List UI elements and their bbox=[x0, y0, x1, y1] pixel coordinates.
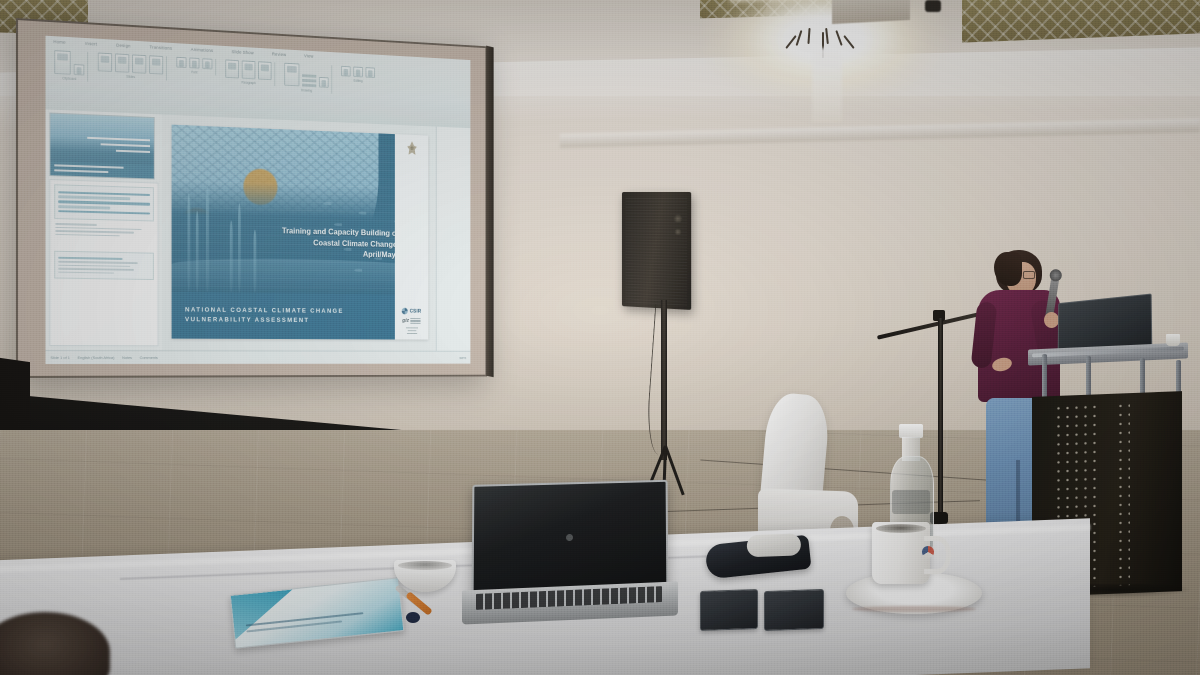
doc-section-2 bbox=[54, 251, 154, 280]
laptop-logo-icon bbox=[566, 534, 573, 541]
projected-image: Home Insert Design Transitions Animation… bbox=[45, 36, 470, 364]
partner-logo bbox=[406, 327, 418, 334]
giz-logo: giz bbox=[402, 318, 421, 324]
bottle-cap bbox=[899, 424, 923, 438]
slide-logo-column: CSIR giz bbox=[395, 134, 428, 339]
mic-stand-pole bbox=[938, 318, 943, 540]
slide-title-block: Training and Capacity Building on the Co… bbox=[246, 225, 414, 261]
paste-button[interactable] bbox=[54, 50, 71, 75]
speaker-tweeter-icon bbox=[674, 228, 681, 235]
tab-animations[interactable]: Animations bbox=[191, 47, 213, 53]
bold-button[interactable] bbox=[176, 57, 186, 68]
group-label-editing: Editing bbox=[354, 79, 363, 83]
csir-logo: CSIR bbox=[402, 308, 421, 315]
status-comments-button[interactable]: Comments bbox=[140, 355, 158, 360]
current-slide[interactable]: Training and Capacity Building on the Co… bbox=[172, 125, 429, 340]
section-button[interactable] bbox=[149, 55, 163, 74]
group-label-font: Font bbox=[191, 70, 197, 74]
coat-of-arms-icon bbox=[405, 140, 419, 157]
light-stem bbox=[812, 48, 842, 122]
lectern-post-1 bbox=[1042, 354, 1047, 402]
ppt-slide-stage[interactable]: Training and Capacity Building on the Co… bbox=[162, 114, 436, 350]
booklet-cover-wedge bbox=[231, 589, 297, 639]
ribbon-group-clipboard[interactable]: Clipboard bbox=[51, 50, 88, 82]
ribbon-group-paragraph[interactable]: Paragraph bbox=[223, 59, 276, 86]
lectern-mug bbox=[1166, 334, 1180, 346]
tab-view[interactable]: View bbox=[304, 53, 313, 58]
smartphone-2 bbox=[764, 589, 824, 631]
cut-button[interactable] bbox=[74, 64, 85, 75]
pen-cap-navy bbox=[406, 612, 420, 623]
document-preview-pane[interactable] bbox=[49, 179, 158, 346]
projection-screen: Home Insert Design Transitions Animation… bbox=[16, 18, 487, 378]
laptop-screen bbox=[472, 480, 669, 599]
ribbon-group-drawing[interactable]: Drawing bbox=[282, 63, 333, 94]
presentation-photo: Home Insert Design Transitions Animation… bbox=[0, 0, 1200, 675]
layout-button[interactable] bbox=[115, 53, 129, 72]
ppt-thumbnail-pane[interactable] bbox=[45, 109, 163, 350]
shape-fill-button[interactable] bbox=[319, 77, 329, 88]
presenter-hair-front bbox=[994, 252, 1022, 286]
slide-seabed-graphic bbox=[172, 257, 429, 294]
status-zoom-level[interactable]: 68% bbox=[459, 355, 466, 360]
ppt-ribbon-groups[interactable]: Clipboard Slides bbox=[51, 50, 467, 100]
tab-design[interactable]: Design bbox=[116, 43, 130, 49]
giz-logo-bars-icon bbox=[411, 318, 421, 323]
speaker-driver-icon bbox=[673, 214, 682, 223]
ribbon-group-editing[interactable]: Editing bbox=[338, 66, 377, 84]
select-icon[interactable] bbox=[365, 67, 375, 78]
status-language[interactable]: English (South Africa) bbox=[78, 355, 115, 360]
numbering-button[interactable] bbox=[242, 60, 256, 79]
ppt-status-bar[interactable]: Slide 1 of 1 English (South Africa) Note… bbox=[45, 350, 470, 364]
group-label-clipboard: Clipboard bbox=[62, 76, 76, 81]
tab-insert[interactable]: Insert bbox=[85, 41, 97, 47]
lectern-perforation-2 bbox=[1116, 401, 1130, 586]
air-conditioner-vent bbox=[832, 0, 910, 24]
tab-transitions[interactable]: Transitions bbox=[150, 45, 173, 51]
thumbnail-banner bbox=[50, 161, 153, 178]
tab-home[interactable]: Home bbox=[53, 39, 65, 45]
slide-banner: NATIONAL COASTAL CLIMATE CHANGE VULNERAB… bbox=[172, 292, 429, 340]
smartphone-1 bbox=[700, 589, 758, 631]
pa-speaker bbox=[622, 192, 691, 310]
group-label-slides: Slides bbox=[126, 75, 135, 79]
ceiling-light bbox=[700, 0, 950, 120]
csir-mark-icon bbox=[402, 308, 408, 315]
doc-section-1 bbox=[54, 184, 154, 221]
tab-review[interactable]: Review bbox=[272, 52, 286, 58]
find-icon[interactable] bbox=[341, 66, 351, 77]
powerpoint-window[interactable]: Home Insert Design Transitions Animation… bbox=[45, 36, 470, 364]
group-label-drawing: Drawing bbox=[301, 88, 312, 92]
ribbon-group-slides[interactable]: Slides bbox=[95, 52, 167, 80]
new-slide-button[interactable] bbox=[98, 52, 112, 71]
giz-logo-text: giz bbox=[402, 318, 409, 324]
ribbon-group-font[interactable]: Font bbox=[173, 57, 216, 76]
ppt-right-pane[interactable] bbox=[436, 127, 471, 351]
status-slide-counter: Slide 1 of 1 bbox=[50, 355, 69, 360]
italic-button[interactable] bbox=[189, 58, 199, 69]
mug-logo-icon bbox=[922, 546, 934, 558]
bottle-label bbox=[892, 490, 930, 514]
underline-button[interactable] bbox=[202, 58, 212, 69]
replace-icon[interactable] bbox=[353, 67, 363, 78]
status-notes-button[interactable]: Notes bbox=[122, 355, 132, 360]
speaker-grill bbox=[626, 196, 688, 306]
slide-thumbnail-1[interactable] bbox=[49, 112, 154, 179]
screen-side-edge bbox=[486, 46, 493, 378]
shape-styles-list[interactable] bbox=[302, 74, 316, 87]
reset-button[interactable] bbox=[132, 54, 146, 73]
align-button[interactable] bbox=[258, 61, 272, 80]
csir-logo-text: CSIR bbox=[410, 308, 422, 314]
ceiling-sensor-icon bbox=[925, 0, 941, 12]
group-label-paragraph: Paragraph bbox=[241, 81, 255, 86]
bullets-button[interactable] bbox=[225, 59, 239, 78]
presenter-right-hand bbox=[1044, 312, 1059, 328]
table-laptop bbox=[462, 482, 678, 620]
shapes-gallery-button[interactable] bbox=[284, 63, 299, 87]
tab-slideshow[interactable]: Slide Show bbox=[232, 49, 254, 55]
slide-banner-line-2: VULNERABILITY ASSESSMENT bbox=[185, 315, 428, 326]
